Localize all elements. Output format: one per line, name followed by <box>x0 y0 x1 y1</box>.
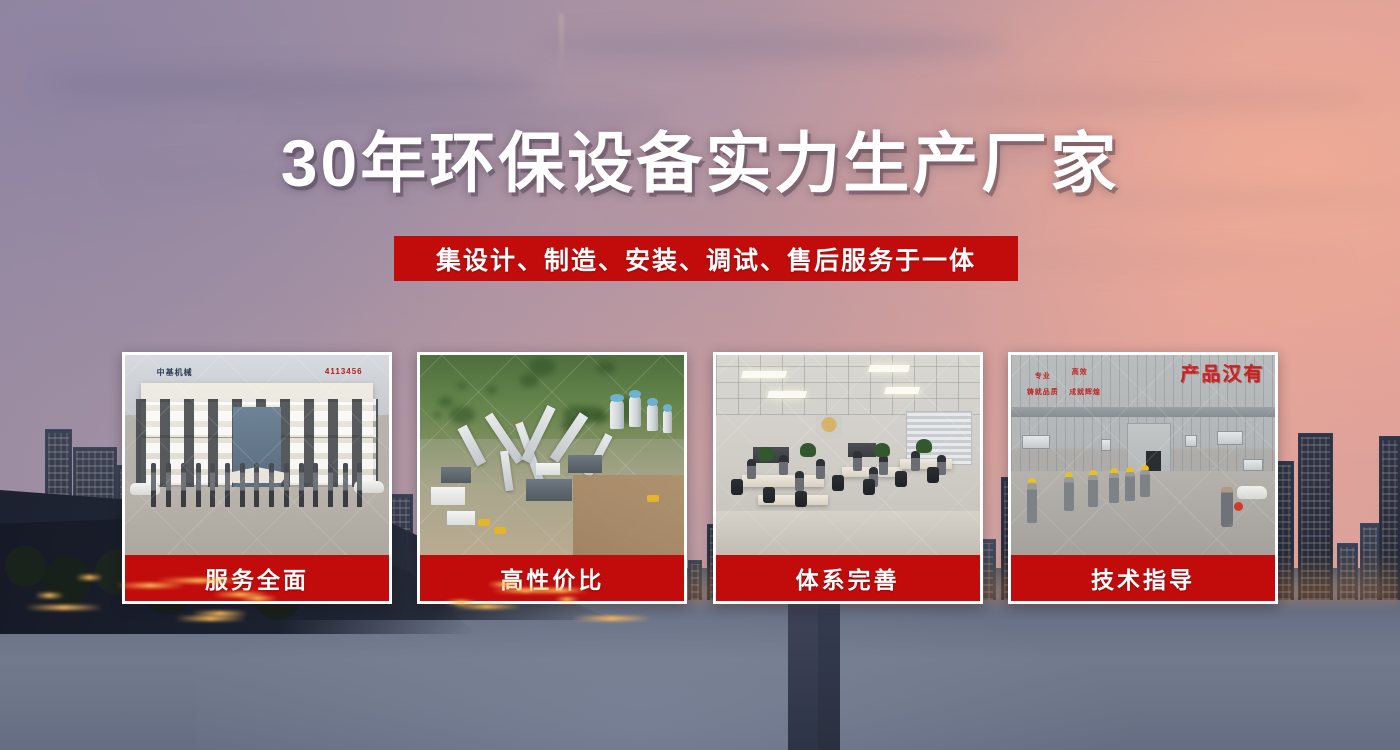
shore-light <box>488 582 520 587</box>
worker-figure <box>1140 470 1150 497</box>
office-chair <box>763 487 775 503</box>
factory-window <box>1101 439 1111 451</box>
shore-light <box>239 596 277 601</box>
plant-building <box>536 463 560 475</box>
shore-light <box>175 616 245 621</box>
office-worker <box>911 451 920 471</box>
photo-sign-text: 中基机械 <box>157 367 193 378</box>
vegetation <box>520 374 538 387</box>
shore-light <box>572 616 651 621</box>
wall-logo-icon <box>816 415 842 439</box>
shore-light <box>25 605 102 610</box>
light-reflection-streak <box>560 14 563 76</box>
factory-window <box>1243 459 1263 471</box>
photo-phone-text: 4113456 <box>325 367 363 376</box>
office-chair <box>895 471 907 487</box>
ceiling-light <box>884 387 920 394</box>
feature-card-list: 中基机械 4113456 服务全面 高性价比 <box>122 352 1278 604</box>
office-worker <box>779 455 788 475</box>
card-photo-office-interior-with-employees <box>716 355 980 555</box>
vegetation <box>529 358 555 376</box>
card-label-text: 技术指导 <box>1091 561 1195 595</box>
excavator <box>647 495 659 502</box>
shore-light <box>116 583 186 588</box>
factory-slogan-text: 铸就品质 <box>1027 387 1059 397</box>
plant-building <box>526 479 572 501</box>
excavator <box>478 519 490 526</box>
potted-plant <box>758 447 774 461</box>
office-worker <box>747 459 756 479</box>
potted-plant <box>916 439 932 453</box>
card-photo-company-office-building-with-staff: 中基机械 4113456 <box>125 355 389 555</box>
excavated-ground <box>573 475 684 555</box>
factory-slogan-text: 成就辉煌 <box>1069 387 1101 397</box>
feature-card-service[interactable]: 中基机械 4113456 服务全面 <box>122 352 392 604</box>
storage-silo <box>610 399 624 429</box>
promo-banner: 30年环保设备实力生产厂家 集设计、制造、安装、调试、售后服务于一体 中基机械 … <box>0 0 1400 750</box>
office-worker <box>795 471 804 491</box>
shore-light <box>492 588 560 593</box>
office-chair <box>927 467 939 483</box>
ceiling-light <box>767 391 807 398</box>
storage-silo <box>629 395 641 427</box>
feature-card-system[interactable]: 体系完善 <box>713 352 983 604</box>
factory-window <box>1022 435 1050 449</box>
card-photo-workers-briefing-at-factory: 产品汉有 专业 高效 铸就品质 成就辉煌 <box>1011 355 1275 555</box>
card-label-text: 体系完善 <box>796 561 900 595</box>
shore-light <box>35 593 64 598</box>
office-worker <box>816 459 825 479</box>
worker-figure <box>1125 472 1135 501</box>
office-chair <box>832 475 844 491</box>
shore-light <box>453 604 520 609</box>
shore-light <box>192 611 248 616</box>
cloud-streak <box>924 83 1372 113</box>
factory-sign-text: 产品汉有 <box>1180 359 1264 386</box>
shore-light <box>76 575 102 580</box>
potted-plant <box>800 443 816 457</box>
feature-card-guidance[interactable]: 产品汉有 专业 高效 铸就品质 成就辉煌 技术指导 <box>1008 352 1278 604</box>
worker-figure <box>1088 475 1098 507</box>
card-label-bar: 技术指导 <box>1011 555 1275 601</box>
subtitle-text: 集设计、制造、安装、调试、售后服务于一体 <box>436 241 976 277</box>
ceiling-light <box>741 371 787 378</box>
shore-light <box>213 592 268 597</box>
subtitle-banner: 集设计、制造、安装、调试、售后服务于一体 <box>394 236 1018 281</box>
supervisor-figure <box>1221 487 1233 527</box>
cloud-streak <box>616 210 1036 228</box>
factory-slogan-text: 专业 <box>1035 371 1051 381</box>
ceiling-light <box>868 365 910 372</box>
plant-building <box>447 511 475 525</box>
office-worker <box>853 451 862 471</box>
worker-figure <box>1027 483 1037 523</box>
factory-window <box>1185 435 1197 447</box>
shore-light <box>555 597 579 602</box>
vegetation <box>449 406 475 424</box>
worker-figure <box>1064 477 1074 511</box>
card-label-bar: 体系完善 <box>716 555 980 601</box>
plant-building <box>441 467 471 483</box>
vegetation <box>438 397 453 407</box>
plant-building <box>431 487 465 505</box>
potted-plant <box>874 443 890 457</box>
shore-light <box>156 578 242 583</box>
card-photo-aerial-industrial-plant <box>420 355 684 555</box>
office-chair <box>863 479 875 495</box>
page-title: 30年环保设备实力生产厂家 <box>0 128 1400 199</box>
vegetation <box>433 412 442 418</box>
card-label-bar: 高性价比 <box>420 555 684 601</box>
worker-figure <box>1109 473 1119 503</box>
office-worker <box>879 455 888 475</box>
cloud-streak <box>42 68 546 102</box>
feature-card-value[interactable]: 高性价比 <box>417 352 687 604</box>
office-chair <box>731 479 743 495</box>
storage-silo <box>663 409 672 433</box>
office-chair <box>795 491 807 507</box>
cloud-streak <box>532 30 1008 60</box>
factory-slogan-text: 高效 <box>1072 367 1088 377</box>
plant-building <box>568 455 602 473</box>
factory-window <box>1217 431 1243 445</box>
excavator <box>494 527 506 534</box>
storage-silo <box>647 403 658 431</box>
